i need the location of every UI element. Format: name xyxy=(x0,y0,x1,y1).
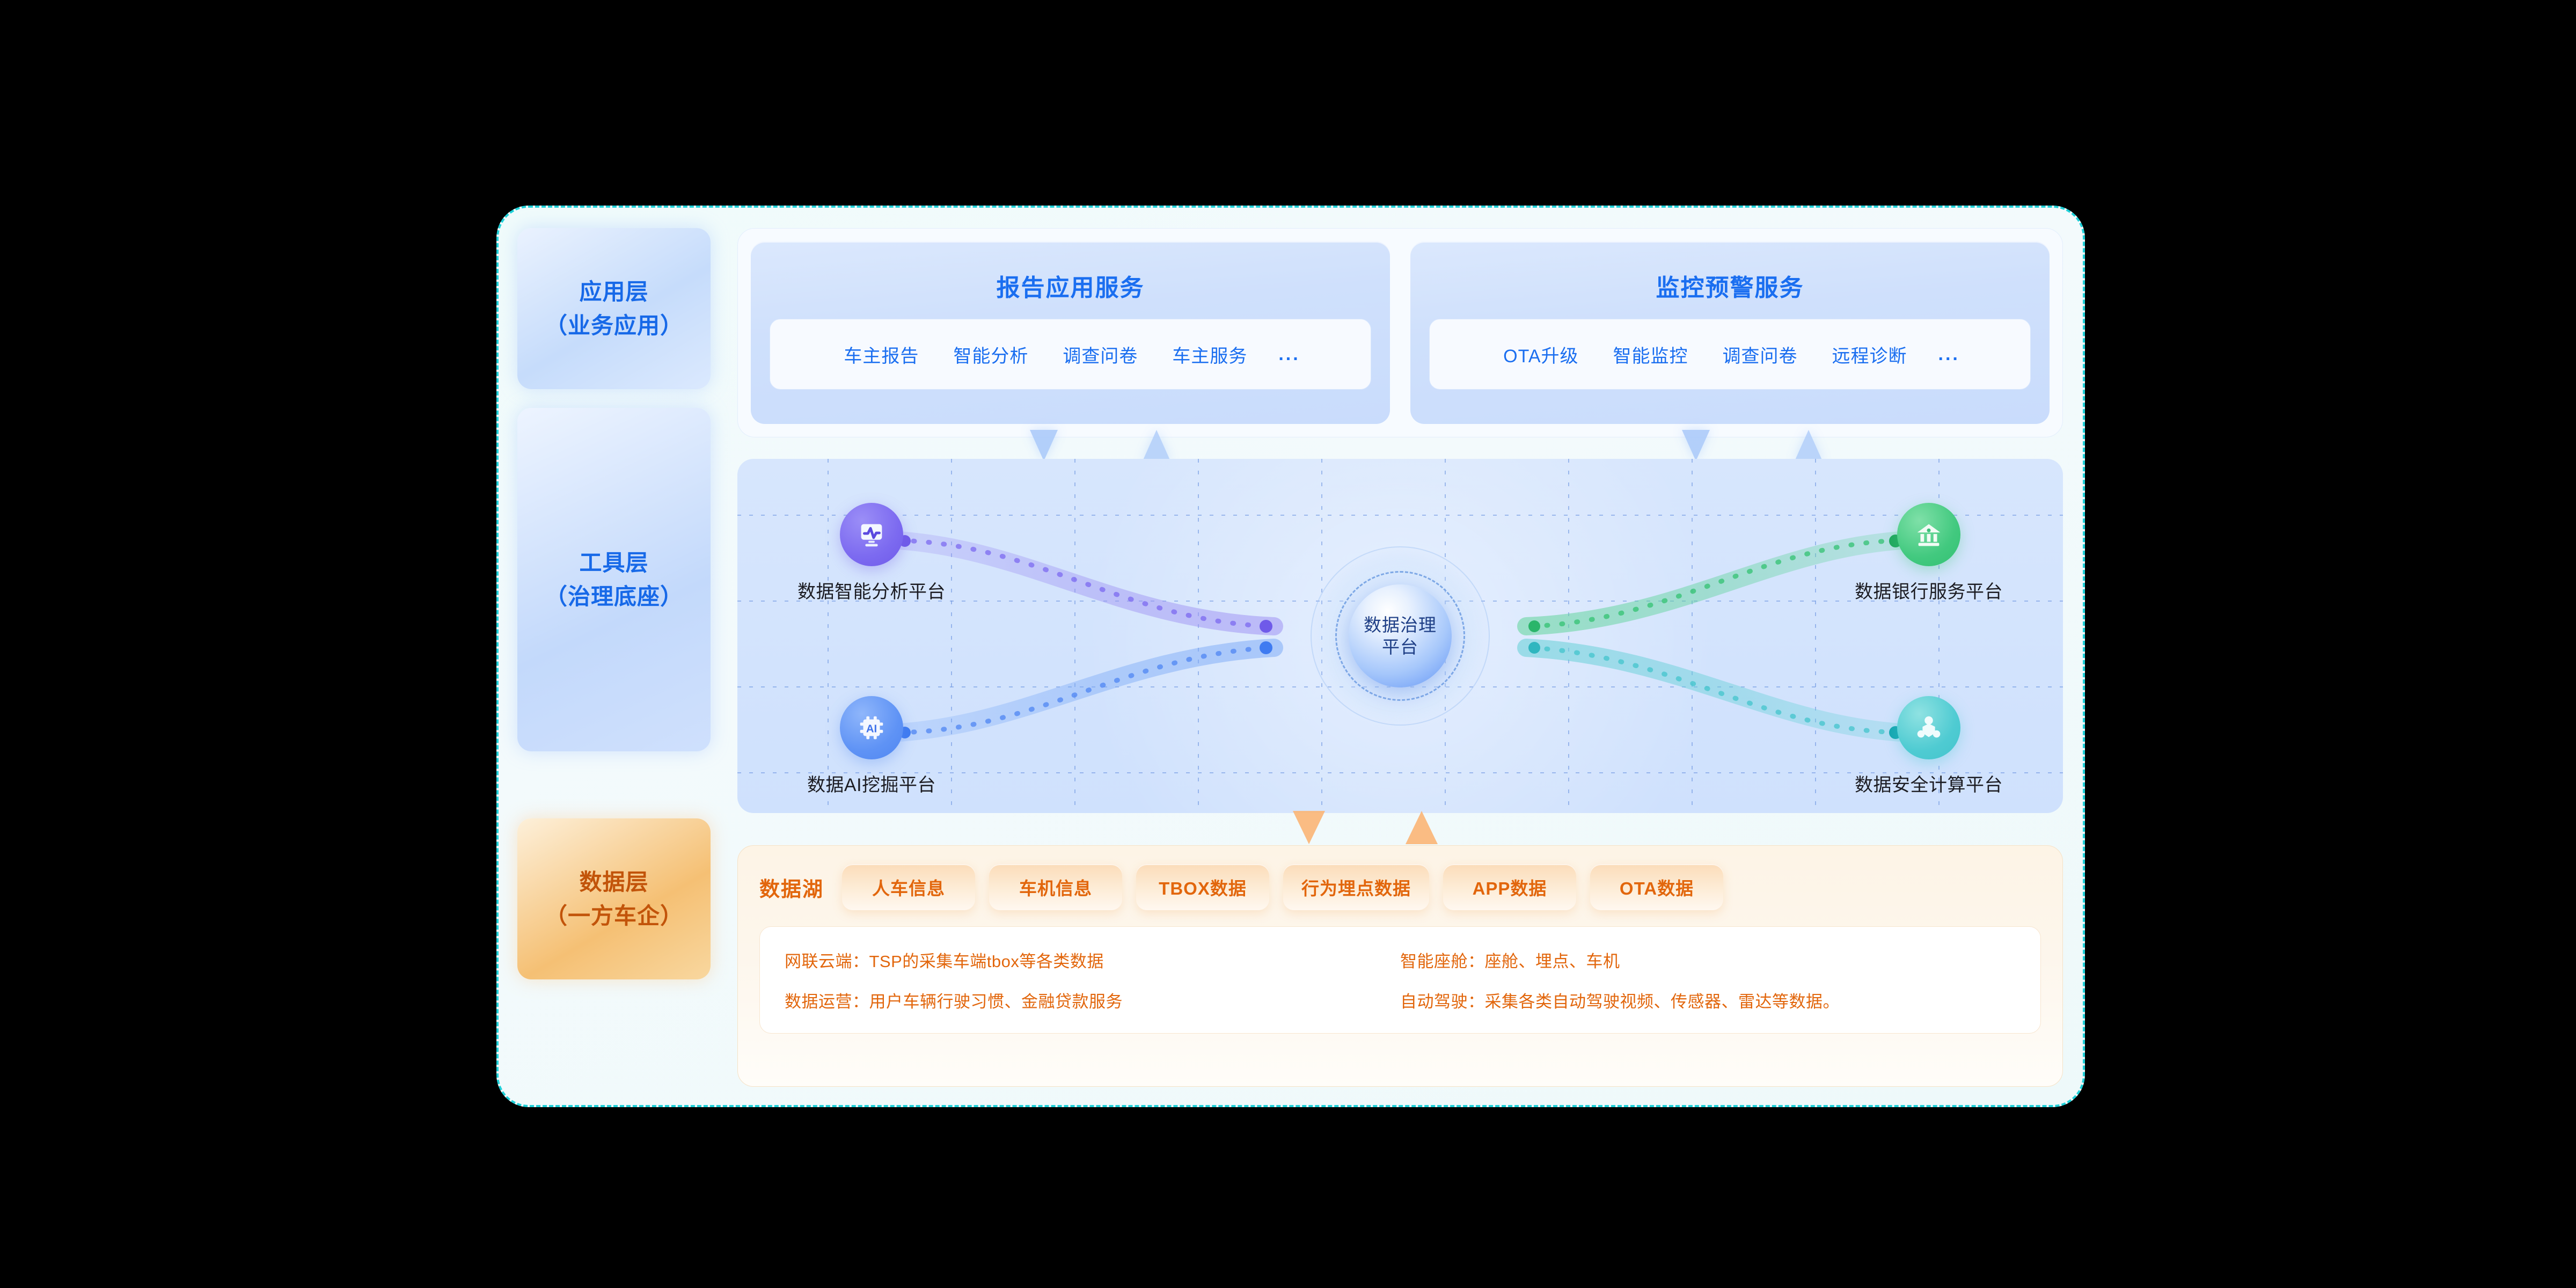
platform-label: 数据智能分析平台 xyxy=(791,577,952,603)
data-lake-tag[interactable]: OTA数据 xyxy=(1590,864,1723,910)
data-lake-tag[interactable]: APP数据 xyxy=(1443,864,1576,910)
layer-data-sub: （一方车企） xyxy=(545,899,683,933)
service-tag[interactable]: OTA升级 xyxy=(1486,341,1596,368)
description-line: 智能座舱：座舱、埋点、车机 xyxy=(1400,948,2016,972)
service-card-report[interactable]: 报告应用服务 车主报告 智能分析 调查问卷 车主服务 ... xyxy=(751,241,1390,424)
layer-tool-sub: （治理底座） xyxy=(545,580,683,613)
data-layer-panel: 数据湖 人车信息 车机信息 TBOX数据 行为埋点数据 APP数据 OTA数据 … xyxy=(737,845,2063,1087)
service-tag[interactable]: 调查问卷 xyxy=(1045,341,1155,368)
platform-label: 数据银行服务平台 xyxy=(1848,577,2009,603)
platform-label: 数据安全计算平台 xyxy=(1848,770,2009,796)
data-lake-tag[interactable]: TBOX数据 xyxy=(1136,864,1269,910)
service-tag-bar: 车主报告 智能分析 调查问卷 车主服务 ... xyxy=(770,319,1371,390)
monitor-pulse-icon xyxy=(855,518,888,551)
application-layer-panel: 报告应用服务 车主报告 智能分析 调查问卷 车主服务 ... 监控预警服务 OT… xyxy=(737,228,2063,437)
arrow-up-data-to-tool xyxy=(1406,811,1438,844)
platform-node-bank[interactable]: 数据银行服务平台 xyxy=(1848,503,2009,603)
data-lake-tag[interactable]: 行为埋点数据 xyxy=(1283,864,1429,910)
platform-node-ai[interactable]: AI 数据AI挖掘平台 xyxy=(791,696,952,796)
platform-icon-wrapper xyxy=(840,503,903,566)
layers-content: 报告应用服务 车主报告 智能分析 调查问卷 车主服务 ... 监控预警服务 OT… xyxy=(737,228,2063,1087)
layer-label-data: 数据层 （一方车企） xyxy=(517,818,711,979)
platform-node-security[interactable]: 数据安全计算平台 xyxy=(1848,696,2009,796)
hub-title-line1: 数据治理 xyxy=(1364,614,1437,636)
platform-label: 数据AI挖掘平台 xyxy=(791,770,952,796)
arrow-up-tool-to-app-left xyxy=(1143,430,1170,461)
layer-data-name: 数据层 xyxy=(545,865,683,899)
diagram-canvas: 应用层 （业务应用） 工具层 （治理底座） 数据层 （一方车企） xyxy=(0,0,2576,1288)
layer-application-name: 应用层 xyxy=(545,275,683,309)
description-line: 自动驾驶：采集各类自动驾驶视频、传感器、雷达等数据。 xyxy=(1400,988,2016,1012)
data-lake-title: 数据湖 xyxy=(759,873,824,902)
arrow-down-app-to-tool-right xyxy=(1682,430,1710,461)
arrow-down-app-to-tool-left xyxy=(1030,430,1058,461)
service-tag-more[interactable]: ... xyxy=(1924,344,1974,365)
data-lake-tag[interactable]: 人车信息 xyxy=(842,864,975,910)
layer-application-sub: （业务应用） xyxy=(545,309,683,342)
description-line: 网联云端：TSP的采集车端tbox等各类数据 xyxy=(785,948,1400,972)
platform-icon-wrapper xyxy=(1897,503,1960,566)
description-line: 数据运营：用户车辆行驶习惯、金融贷款服务 xyxy=(785,988,1400,1012)
description-column-right: 智能座舱：座舱、埋点、车机 自动驾驶：采集各类自动驾驶视频、传感器、雷达等数据。 xyxy=(1400,948,2016,1012)
tool-layer-panel: 数据智能分析平台 xyxy=(737,459,2063,813)
layer-label-tool: 工具层 （治理底座） xyxy=(517,408,711,751)
architecture-container: 应用层 （业务应用） 工具层 （治理底座） 数据层 （一方车企） xyxy=(496,206,2085,1107)
data-lake-row: 数据湖 人车信息 车机信息 TBOX数据 行为埋点数据 APP数据 OTA数据 xyxy=(759,864,2041,910)
service-tag[interactable]: 车主服务 xyxy=(1155,341,1264,368)
platform-node-analysis[interactable]: 数据智能分析平台 xyxy=(791,503,952,603)
service-tag-bar: OTA升级 智能监控 调查问卷 远程诊断 ... xyxy=(1429,319,2031,390)
service-tag[interactable]: 车主报告 xyxy=(826,341,936,368)
ai-chip-icon: AI xyxy=(855,711,888,744)
service-card-title: 监控预警服务 xyxy=(1656,268,1804,303)
layer-tool-name: 工具层 xyxy=(545,546,683,580)
bank-building-icon xyxy=(1912,518,1945,551)
service-tag[interactable]: 智能分析 xyxy=(936,341,1045,368)
service-tag[interactable]: 调查问卷 xyxy=(1706,341,1815,368)
svg-text:AI: AI xyxy=(866,723,877,735)
arrow-up-tool-to-app-right xyxy=(1795,430,1823,461)
data-description-card: 网联云端：TSP的采集车端tbox等各类数据 数据运营：用户车辆行驶习惯、金融贷… xyxy=(759,926,2041,1034)
platform-icon-wrapper xyxy=(1897,696,1960,759)
description-column-left: 网联云端：TSP的采集车端tbox等各类数据 数据运营：用户车辆行驶习惯、金融贷… xyxy=(785,948,1400,1012)
hub-sphere: 数据治理 平台 xyxy=(1349,584,1452,687)
data-governance-hub[interactable]: 数据治理 平台 xyxy=(1312,547,1489,724)
layer-label-application: 应用层 （业务应用） xyxy=(517,228,711,389)
service-card-monitor[interactable]: 监控预警服务 OTA升级 智能监控 调查问卷 远程诊断 ... xyxy=(1410,241,2050,424)
service-card-title: 报告应用服务 xyxy=(997,268,1145,303)
service-tag[interactable]: 远程诊断 xyxy=(1815,341,1924,368)
shield-network-icon xyxy=(1912,711,1945,744)
service-tag-more[interactable]: ... xyxy=(1264,344,1314,365)
layer-rail: 应用层 （业务应用） 工具层 （治理底座） 数据层 （一方车企） xyxy=(517,228,711,1087)
platform-icon-wrapper: AI xyxy=(840,696,903,759)
data-lake-tag[interactable]: 车机信息 xyxy=(989,864,1122,910)
arrow-down-tool-to-data xyxy=(1293,811,1325,844)
hub-title-line2: 平台 xyxy=(1382,636,1418,658)
service-tag[interactable]: 智能监控 xyxy=(1596,341,1706,368)
